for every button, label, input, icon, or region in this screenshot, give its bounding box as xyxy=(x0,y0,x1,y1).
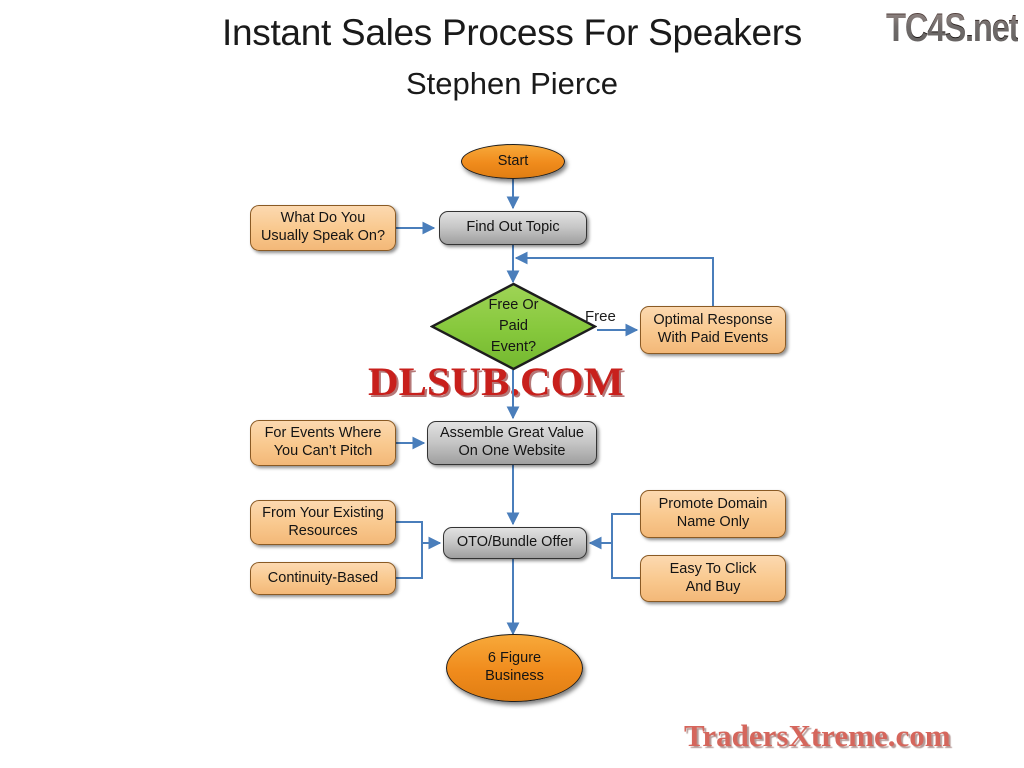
node-free-or-paid-label: Free OrPaidEvent? xyxy=(430,282,597,371)
node-oto-bundle-offer-label: OTO/Bundle Offer xyxy=(457,534,573,552)
node-continuity-based[interactable]: Continuity-Based xyxy=(250,562,396,595)
edge-continuity-based-to-merge xyxy=(396,543,422,578)
node-promote-domain[interactable]: Promote DomainName Only xyxy=(640,490,786,538)
node-for-events-pitch-label: For Events WhereYou Can’t Pitch xyxy=(265,425,382,460)
node-find-out-topic-label: Find Out Topic xyxy=(466,219,559,237)
node-free-or-paid[interactable]: Free OrPaidEvent? xyxy=(430,282,597,371)
slide-canvas: Instant Sales Process For Speakers Steph… xyxy=(0,0,1024,768)
node-assemble-value-label: Assemble Great ValueOn One Website xyxy=(440,425,584,460)
node-easy-click-buy-label: Easy To ClickAnd Buy xyxy=(670,561,757,596)
edge-existing-resources-to-merge xyxy=(396,522,422,543)
node-what-speak-on-label: What Do YouUsually Speak On? xyxy=(261,210,385,245)
node-existing-resources[interactable]: From Your ExistingResources xyxy=(250,500,396,545)
node-start[interactable]: Start xyxy=(461,144,565,179)
node-easy-click-buy[interactable]: Easy To ClickAnd Buy xyxy=(640,555,786,602)
node-for-events-pitch[interactable]: For Events WhereYou Can’t Pitch xyxy=(250,420,396,466)
node-optimal-response[interactable]: Optimal ResponseWith Paid Events xyxy=(640,306,786,354)
node-existing-resources-label: From Your ExistingResources xyxy=(262,505,384,540)
edge-label-free: Free xyxy=(585,308,616,325)
node-optimal-response-label: Optimal ResponseWith Paid Events xyxy=(653,312,772,347)
node-promote-domain-label: Promote DomainName Only xyxy=(659,496,768,531)
node-assemble-value[interactable]: Assemble Great ValueOn One Website xyxy=(427,421,597,465)
node-six-figure[interactable]: 6 FigureBusiness xyxy=(446,634,583,702)
edge-easy-click-buy-to-merge xyxy=(612,543,640,578)
node-continuity-based-label: Continuity-Based xyxy=(268,570,378,588)
node-start-label: Start xyxy=(498,153,529,171)
node-six-figure-label: 6 FigureBusiness xyxy=(485,650,544,685)
node-what-speak-on[interactable]: What Do YouUsually Speak On? xyxy=(250,205,396,251)
edge-promote-domain-to-merge xyxy=(612,514,640,543)
node-find-out-topic[interactable]: Find Out Topic xyxy=(439,211,587,245)
node-oto-bundle-offer[interactable]: OTO/Bundle Offer xyxy=(443,527,587,559)
